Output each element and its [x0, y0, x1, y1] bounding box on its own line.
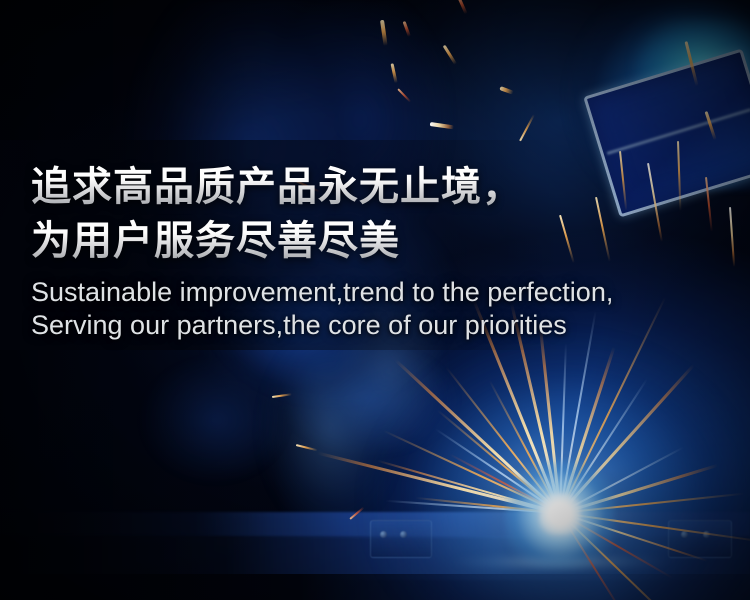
headline-chinese-line-2: 为用户服务尽善尽美	[31, 214, 731, 268]
arc-flash-hotspot	[540, 494, 580, 534]
subheadline-english-line-1: Sustainable improvement,trend to the per…	[31, 276, 731, 309]
headline-chinese-line-1: 追求高品质产品永无止境，	[31, 160, 731, 214]
banner-copy-block: 追求高品质产品永无止境， 为用户服务尽善尽美 Sustainable impro…	[31, 160, 731, 342]
subheadline-english-line-2: Serving our partners,the core of our pri…	[31, 309, 731, 342]
hero-banner: 追求高品质产品永无止境， 为用户服务尽善尽美 Sustainable impro…	[0, 0, 750, 600]
